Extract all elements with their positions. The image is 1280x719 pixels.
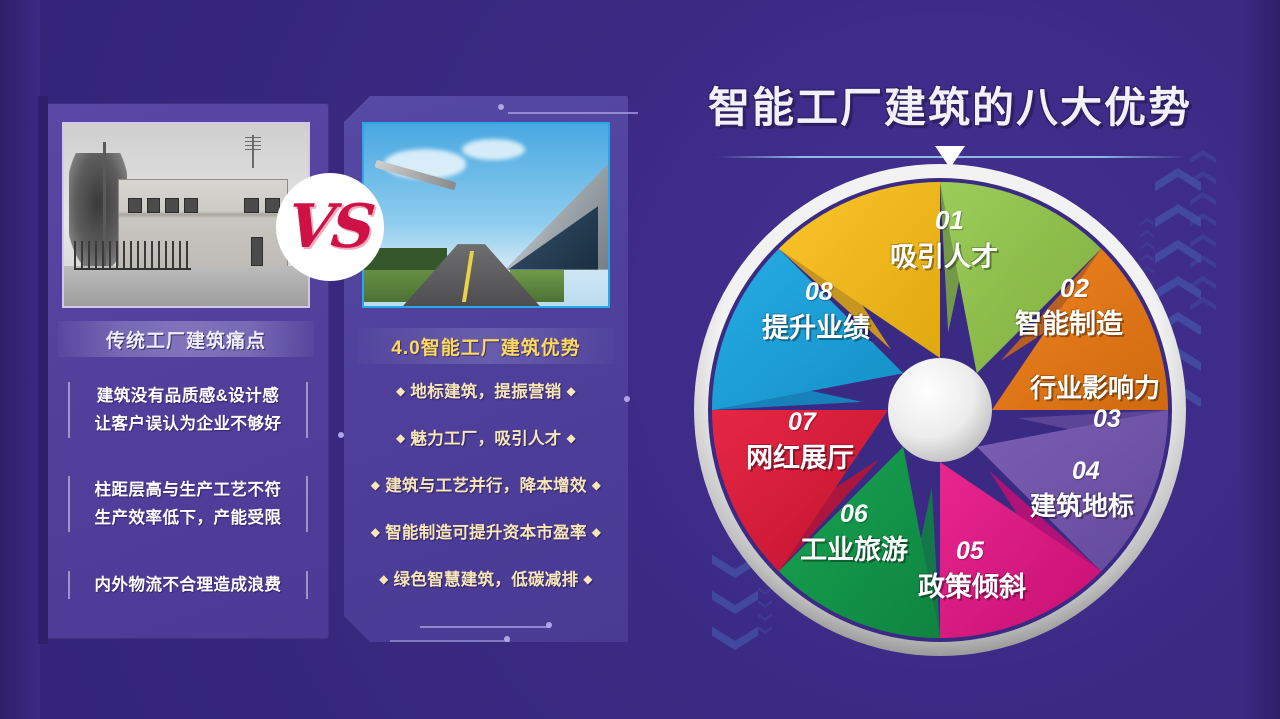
card-deco-dot-bottom2 — [504, 636, 510, 642]
pain-points-title: 传统工厂建筑痛点 — [58, 321, 314, 357]
diamond-bullet-icon: ◆ — [371, 478, 381, 492]
pain-points-card[interactable]: 传统工厂建筑痛点 建筑没有品质感&设计感 让客户误认为企业不够好 柱距层高与生产… — [44, 104, 328, 638]
advantage-bullet-label: 魅力工厂，吸引人才 — [410, 430, 561, 448]
pain-point-line: 内外物流不合理造成浪费 — [76, 571, 300, 599]
advantage-bullet: ◆ 绿色智慧建筑，低碳减排 ◆ — [354, 566, 618, 590]
vs-badge-label: VS — [284, 192, 375, 262]
diamond-bullet-icon: ◆ — [566, 431, 576, 445]
card-deco-dot-left — [338, 432, 344, 438]
diamond-bullet-icon: ◆ — [592, 478, 602, 492]
vs-badge: VS — [276, 173, 384, 281]
chevron-down-icon — [1190, 213, 1216, 230]
diamond-bullet-icon: ◆ — [371, 525, 381, 539]
card-deco-line-bottom — [420, 626, 550, 628]
advantage-bullet-label: 智能制造可提升资本市盈率 — [385, 524, 587, 542]
diamond-bullet-icon: ◆ — [592, 525, 602, 539]
diamond-bullet-icon: ◆ — [379, 572, 389, 586]
advantage-bullet: ◆ 地标建筑，提振营销 ◆ — [354, 378, 618, 402]
card-deco-dot-top — [498, 104, 504, 110]
diamond-bullet-icon: ◆ — [396, 384, 406, 398]
diamond-bullet-icon: ◆ — [583, 572, 593, 586]
right-edge-gradient — [1240, 0, 1280, 719]
card-deco-line-bottom2 — [390, 640, 510, 642]
advantage-bullet-label: 绿色智慧建筑，低碳减排 — [394, 571, 579, 589]
advantage-bullet: ◆ 智能制造可提升资本市盈率 ◆ — [354, 519, 618, 543]
pain-point-line: 让客户误认为企业不够好 — [76, 410, 300, 438]
advantages-card[interactable]: 4.0智能工厂建筑优势 ◆ 地标建筑，提振营销 ◆ ◆ 魅力工厂，吸引人才 ◆ … — [344, 96, 628, 642]
pain-point-line: 生产效率低下，产能受限 — [76, 504, 300, 532]
card-deco-dot-right — [624, 396, 630, 402]
pain-point-group-1: 建筑没有品质感&设计感 让客户误认为企业不够好 — [68, 382, 308, 438]
advantage-bullet-label: 地标建筑，提振营销 — [410, 383, 561, 401]
eight-advantages-pinwheel[interactable]: 01 吸引人才 02 智能制造 行业影响力 03 04 建筑地标 05 政策倾斜… — [690, 160, 1190, 660]
page-title: 智能工厂建筑的八大优势 — [700, 74, 1200, 135]
advantage-bullet-label: 建筑与工艺并行，降本增效 — [385, 477, 587, 495]
pain-point-group-2: 柱距层高与生产工艺不符 生产效率低下，产能受限 — [68, 476, 308, 532]
advantage-bullet: ◆ 建筑与工艺并行，降本增效 ◆ — [354, 472, 618, 496]
card-deco-dot-bottom — [546, 622, 552, 628]
slide-canvas: 传统工厂建筑痛点 建筑没有品质感&设计感 让客户误认为企业不够好 柱距层高与生产… — [0, 0, 1280, 719]
chevron-down-icon — [1190, 234, 1216, 251]
chevron-down-icon — [1190, 150, 1216, 167]
left-edge-gradient — [0, 0, 40, 719]
card-deco-line-top — [508, 112, 638, 114]
chevron-down-icon — [1190, 192, 1216, 209]
chevron-down-icon — [1190, 255, 1216, 272]
chevron-down-icon — [1190, 171, 1216, 188]
diamond-bullet-icon: ◆ — [396, 431, 406, 445]
advantage-bullet: ◆ 魅力工厂，吸引人才 ◆ — [354, 425, 618, 449]
smart-factory-photo — [362, 122, 610, 308]
pain-point-group-3: 内外物流不合理造成浪费 — [68, 571, 308, 599]
diamond-bullet-icon: ◆ — [566, 384, 576, 398]
chevron-down-icon — [1190, 276, 1216, 293]
chevron-decoration-right-outer — [1190, 150, 1216, 314]
pain-point-line: 柱距层高与生产工艺不符 — [76, 476, 300, 504]
advantages-title: 4.0智能工厂建筑优势 — [358, 328, 614, 364]
chevron-down-icon — [1190, 297, 1216, 314]
traditional-factory-photo — [62, 122, 310, 308]
pinwheel-svg — [690, 160, 1190, 660]
pain-point-line: 建筑没有品质感&设计感 — [76, 382, 300, 410]
